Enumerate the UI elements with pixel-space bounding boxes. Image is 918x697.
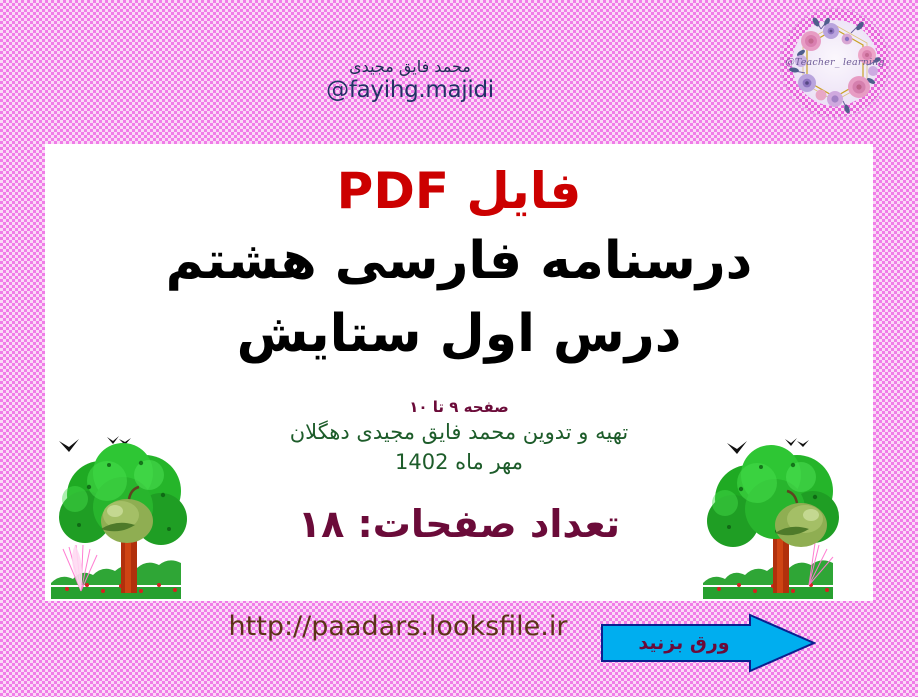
pages-range-label: صفحه ۹ تا ۱۰ — [45, 398, 873, 416]
content-card: فایل PDF درسنامه فارسی هشتم درس اول ستای… — [45, 144, 873, 601]
right-arrow-icon — [600, 613, 816, 673]
author-handle: @fayihg.majidi — [250, 78, 570, 104]
date-line: مهر ماه 1402 — [45, 450, 873, 474]
next-page-button[interactable]: ورق بزنید — [600, 613, 816, 673]
pdf-title: فایل PDF — [45, 162, 873, 220]
lesson-title: درس اول ستایش — [45, 304, 873, 364]
course-title: درسنامه فارسی هشتم — [45, 230, 873, 293]
page-count-label: تعداد صفحات: ۱۸ — [45, 502, 873, 546]
credit-line: تهیه و تدوین محمد فایق مجیدی دهگلان — [45, 420, 873, 444]
author-name: محمد فایق مجیدی — [250, 58, 570, 76]
author-header: محمد فایق مجیدی @fayihg.majidi — [250, 58, 570, 104]
floral-wreath-badge-icon: @Teacher_ learning — [781, 9, 889, 117]
site-url-link[interactable]: http://paadars.looksfile.ir — [196, 611, 600, 642]
slide-canvas: محمد فایق مجیدی @fayihg.majidi — [0, 0, 918, 697]
